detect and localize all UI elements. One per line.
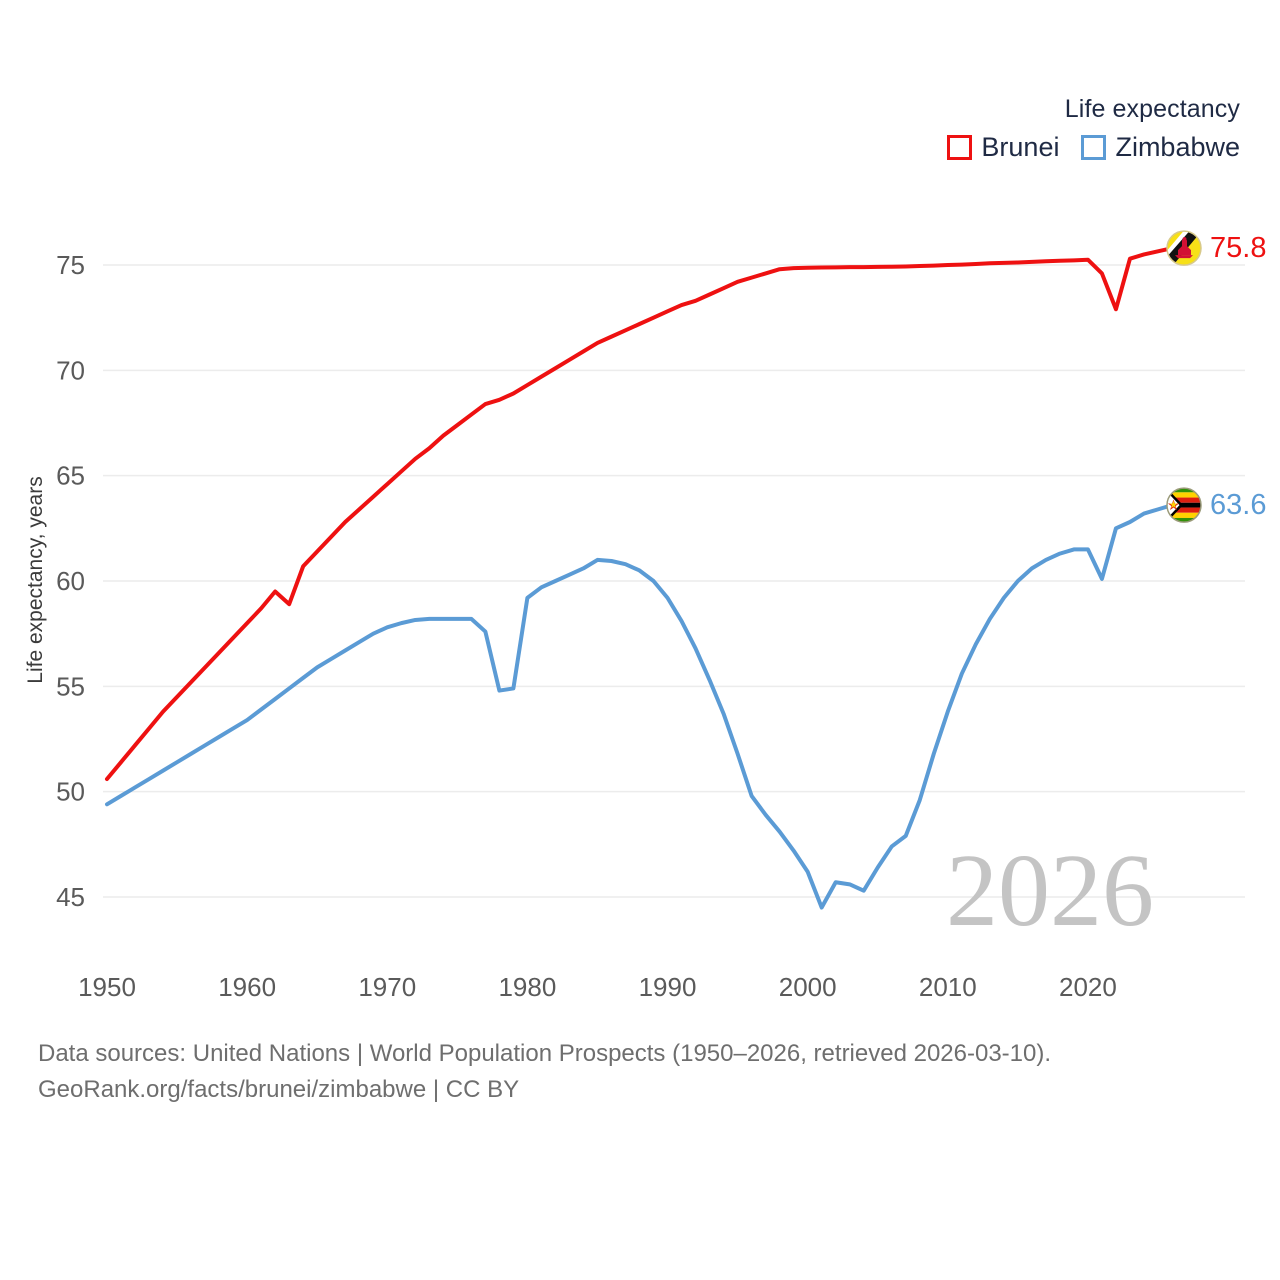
- x-tick-label: 1990: [639, 972, 697, 1002]
- footer-line-sources: Data sources: United Nations | World Pop…: [38, 1036, 1238, 1072]
- y-axis-title: Life expectancy, years: [24, 476, 47, 683]
- y-tick-label: 65: [56, 461, 85, 491]
- chart-page: Life expectancy Brunei Zimbabwe 45505560…: [0, 0, 1280, 1280]
- x-tick-label: 2010: [919, 972, 977, 1002]
- y-tick-label: 60: [56, 566, 85, 596]
- endpoint-value-zimbabwe: 63.6: [1210, 489, 1266, 521]
- y-axis-ticks: 45505560657075: [56, 250, 85, 912]
- x-axis-ticks: 19501960197019801990200020102020: [78, 972, 1117, 1002]
- series-line-brunei: [107, 248, 1172, 779]
- year-watermark: 2026: [946, 833, 1154, 948]
- x-tick-label: 1950: [78, 972, 136, 1002]
- chart-footer: Data sources: United Nations | World Pop…: [38, 1036, 1238, 1109]
- y-tick-label: 55: [56, 671, 85, 701]
- y-tick-label: 50: [56, 777, 85, 807]
- x-tick-label: 1980: [498, 972, 556, 1002]
- footer-line-attribution: GeoRank.org/facts/brunei/zimbabwe | CC B…: [38, 1072, 1238, 1108]
- y-tick-label: 45: [56, 882, 85, 912]
- x-tick-label: 1960: [218, 972, 276, 1002]
- endpoint-value-brunei: 75.8: [1210, 232, 1266, 264]
- x-tick-label: 1970: [358, 972, 416, 1002]
- endpoint-marker-zimbabwe[interactable]: 63.6: [1166, 487, 1266, 523]
- y-tick-label: 75: [56, 250, 85, 280]
- x-tick-label: 2000: [779, 972, 837, 1002]
- endpoint-marker-brunei[interactable]: 75.8: [1164, 228, 1266, 266]
- x-tick-label: 2020: [1059, 972, 1117, 1002]
- gridlines: [103, 265, 1245, 897]
- y-tick-label: 70: [56, 355, 85, 385]
